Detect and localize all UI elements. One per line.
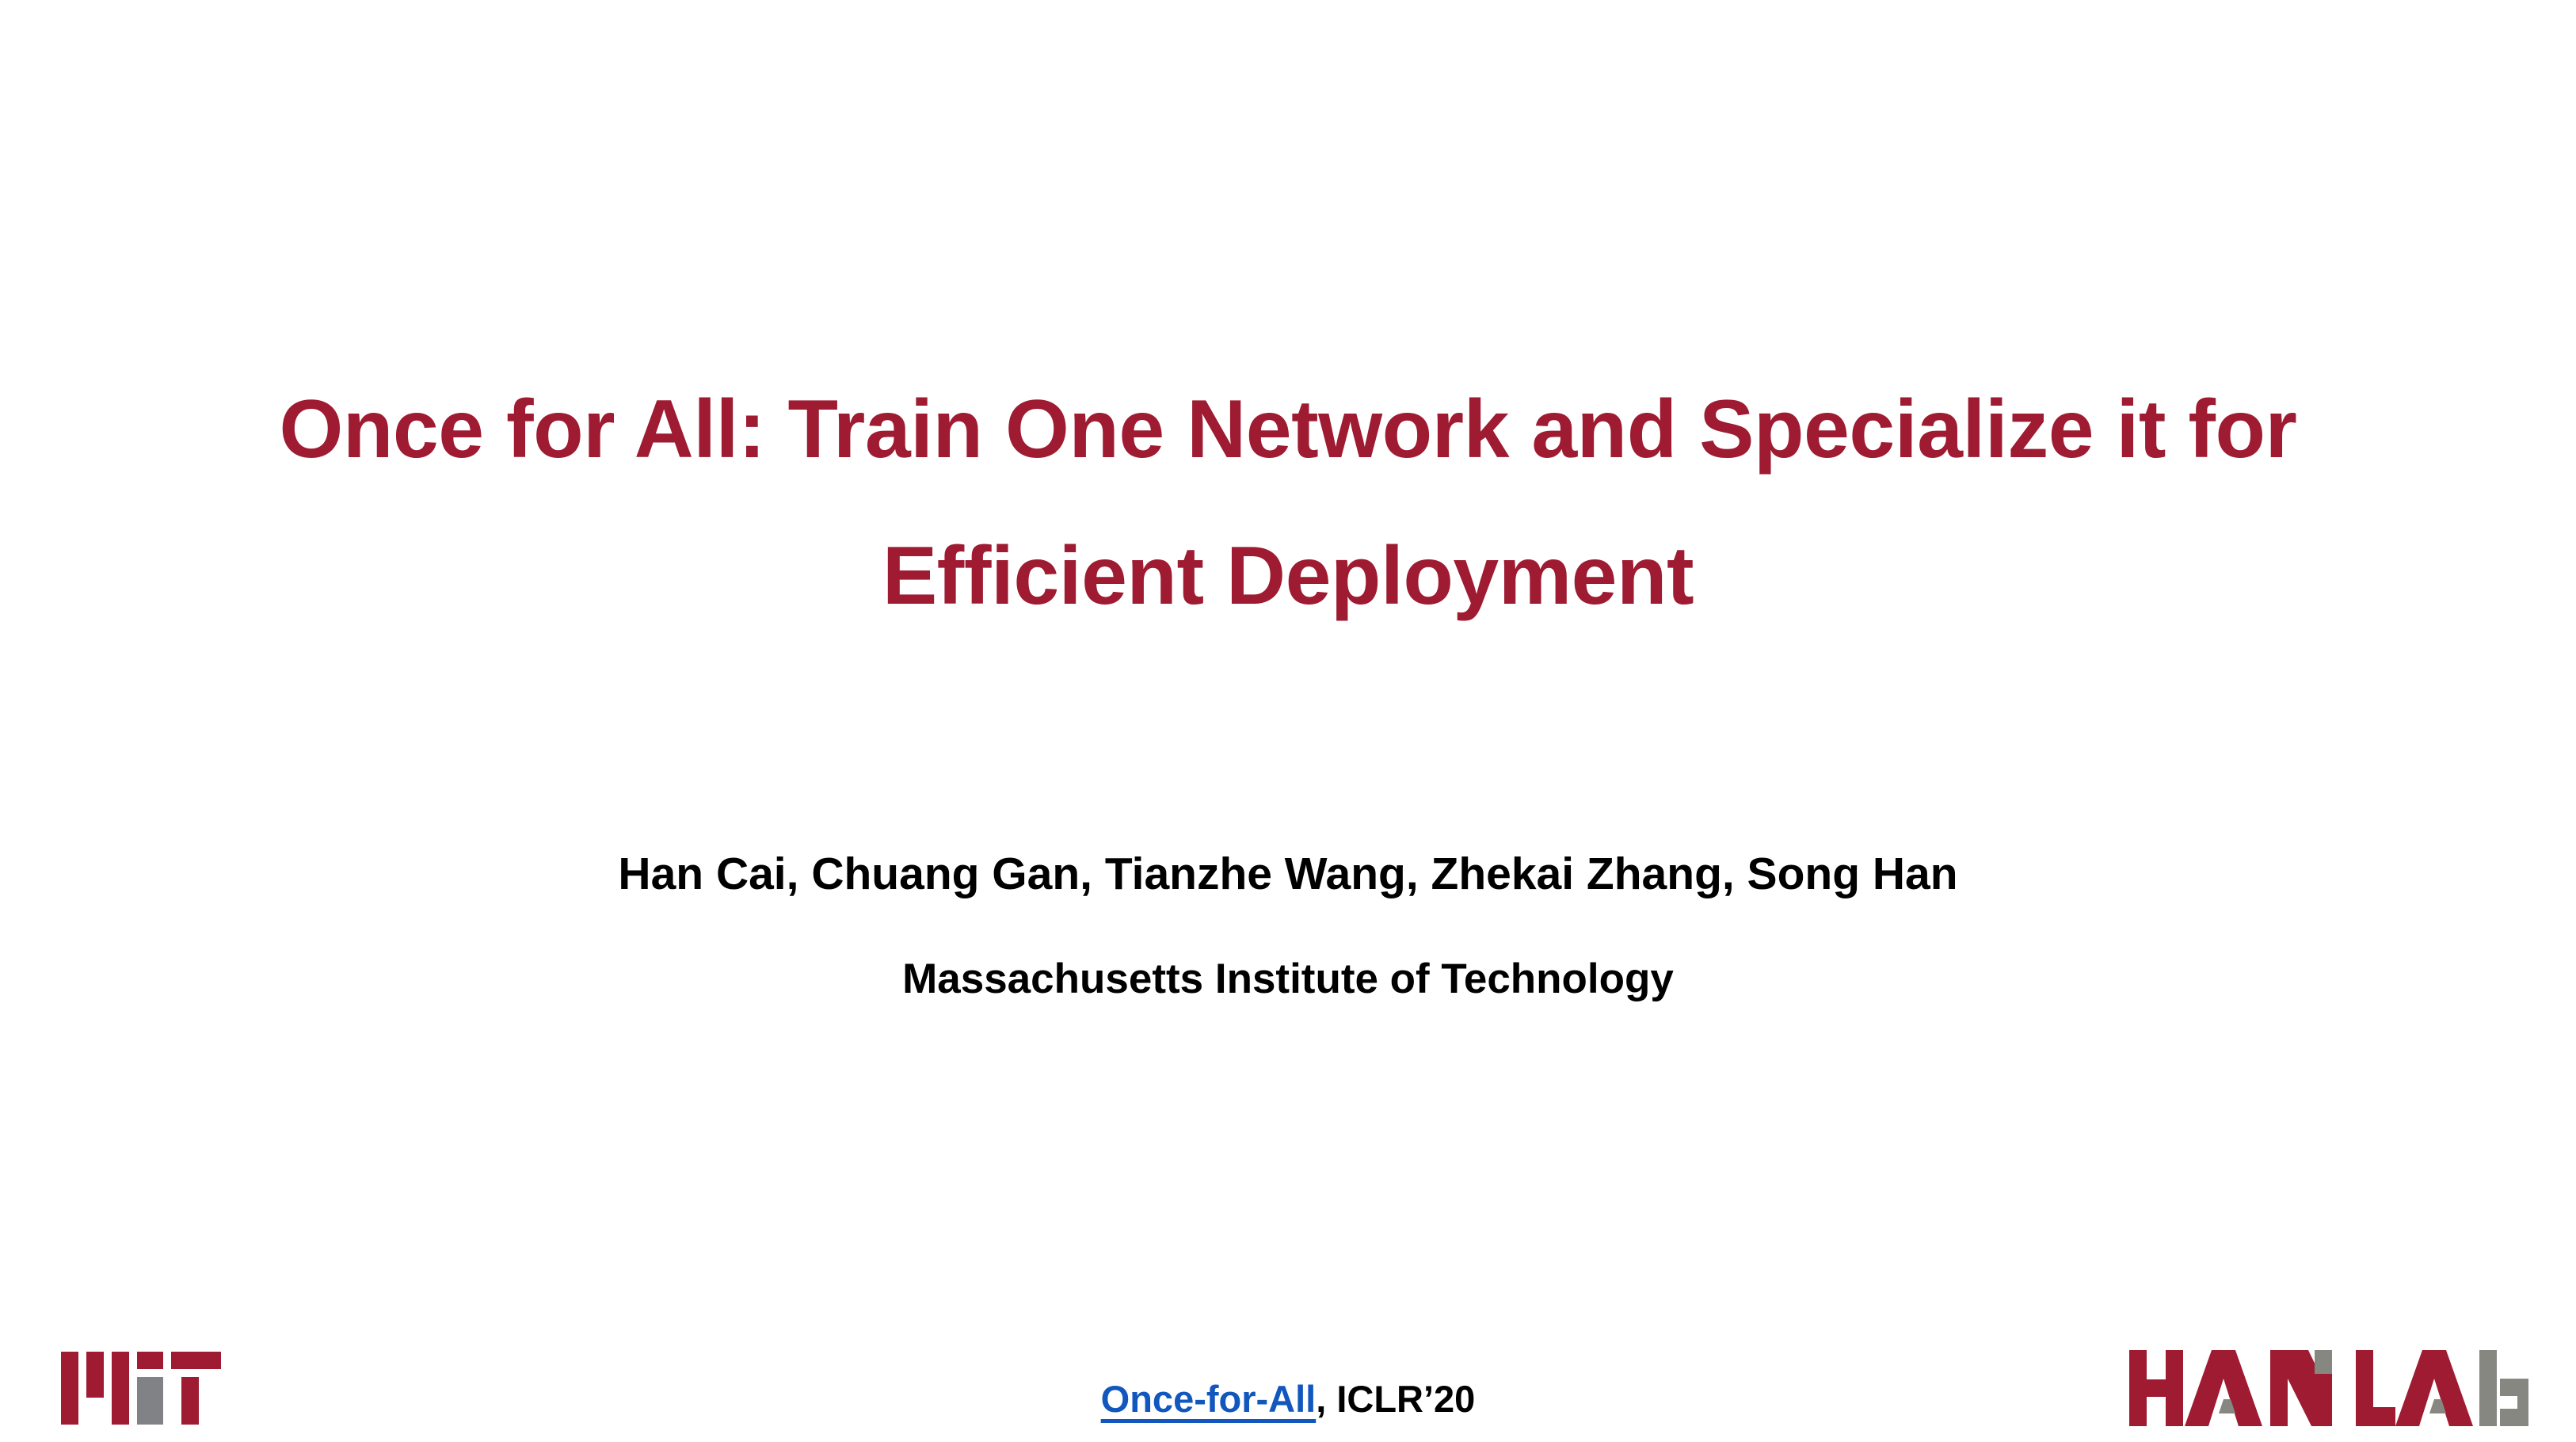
once-for-all-link[interactable]: Once-for-All: [1101, 1378, 1317, 1420]
mit-logo-bar-m1: [61, 1352, 78, 1425]
footer-venue-text: , ICLR’20: [1316, 1378, 1475, 1420]
mit-logo-t-stem: [181, 1377, 199, 1425]
mit-logo: [61, 1352, 181, 1425]
han-lab-logo: [2129, 1350, 2528, 1426]
mit-logo-i-stem: [137, 1377, 163, 1425]
slide-title: Once for All: Train One Network and Spec…: [111, 357, 2465, 650]
authors-section: Han Cai, Chuang Gan, Tianzhe Wang, Zheka…: [111, 852, 2465, 1000]
han-lab-logo-graphic: [2129, 1350, 2528, 1426]
mit-logo-bar-m3: [112, 1352, 129, 1425]
title-line-1: Once for All: Train One Network and Spec…: [111, 357, 2465, 503]
affiliation: Massachusetts Institute of Technology: [111, 958, 2465, 1000]
mit-logo-bar-m2: [86, 1352, 104, 1398]
author-names: Han Cai, Chuang Gan, Tianzhe Wang, Zheka…: [111, 852, 2465, 897]
title-line-2: Efficient Deployment: [111, 503, 2465, 650]
mit-logo-t-crossbar: [171, 1352, 221, 1369]
mit-logo-i-dot: [137, 1352, 163, 1369]
presentation-slide: Once for All: Train One Network and Spec…: [0, 0, 2576, 1442]
